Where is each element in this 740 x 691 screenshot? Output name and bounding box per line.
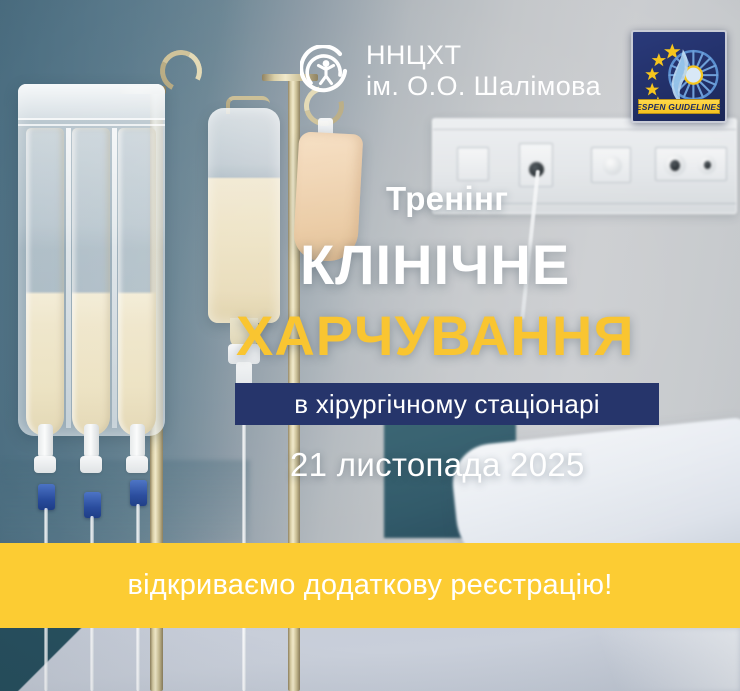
event-subtitle: в хірургічному стаціонарі (294, 389, 599, 420)
event-subtitle-band: в хірургічному стаціонарі (235, 383, 659, 425)
organization-name-line1: ННЦХТ (366, 40, 601, 71)
espen-guidelines-badge: ESPEN GUIDELINES (631, 30, 727, 123)
circle-person-swoosh-icon (300, 45, 352, 97)
event-kicker: Тренінг (386, 180, 508, 218)
espen-ribbon-text: ESPEN GUIDELINES (636, 102, 722, 112)
event-date: 21 листопада 2025 (290, 446, 585, 484)
poster-canvas: ННЦХТ ім. О.О. Шалімова (0, 0, 740, 691)
organization-name-line2: ім. О.О. Шалімова (366, 71, 601, 102)
registration-cta-banner[interactable]: відкриваємо додаткову реєстрацію! (0, 543, 740, 628)
event-title-accent: ХАРЧУВАННЯ (236, 308, 635, 364)
registration-cta-text: відкриваємо додаткову реєстрацію! (127, 569, 612, 602)
organization-logo: ННЦХТ ім. О.О. Шалімова (300, 40, 601, 102)
event-title-main: КЛІНІЧНЕ (300, 237, 570, 293)
espen-ribbon: ESPEN GUIDELINES (638, 99, 720, 114)
